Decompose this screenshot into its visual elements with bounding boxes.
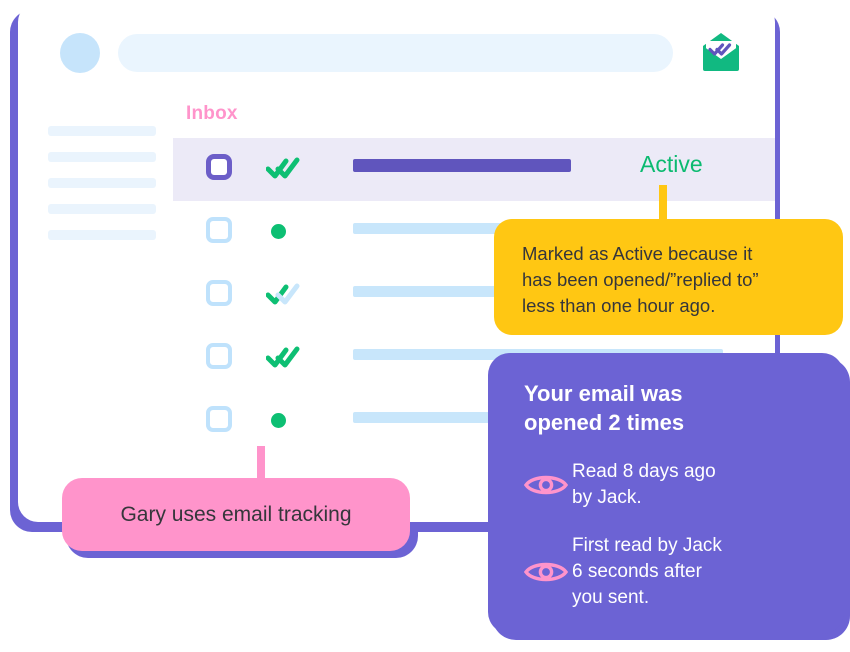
row-checkbox[interactable] — [206, 217, 232, 243]
open-envelope-check-icon[interactable] — [699, 31, 743, 73]
open-event-line-2: by Jack. — [572, 485, 716, 511]
open-event-row: First read by Jack 6 seconds after you s… — [524, 533, 818, 611]
row-checkbox[interactable] — [206, 280, 232, 306]
search-input[interactable] — [118, 34, 673, 72]
status-badge-active: Active — [640, 151, 703, 178]
green-dot-icon — [271, 224, 286, 239]
open-event-row: Read 8 days ago by Jack. — [524, 459, 818, 511]
double-check-read-icon — [266, 345, 300, 369]
email-open-tracking-panel: Your email was opened 2 times Read 8 day… — [488, 353, 844, 634]
sidebar-item-4[interactable] — [48, 204, 156, 214]
tooltip-line-3: less than one hour ago. — [522, 293, 819, 319]
check-half-read-icon — [266, 282, 300, 306]
open-event-line-2: 6 seconds after — [572, 559, 722, 585]
tooltip-line-2: has been opened/”replied to” — [522, 267, 819, 293]
sidebar-skeleton — [48, 126, 158, 256]
panel-title-line-1: Your email was — [524, 379, 818, 408]
callout-text: Gary uses email tracking — [120, 503, 351, 527]
sidebar-item-3[interactable] — [48, 178, 156, 188]
row-checkbox[interactable] — [206, 343, 232, 369]
open-event-text: Read 8 days ago by Jack. — [572, 459, 716, 511]
row-checkbox[interactable] — [206, 154, 232, 180]
row-checkbox[interactable] — [206, 406, 232, 432]
eye-icon — [524, 472, 572, 498]
yellow-connector-line — [659, 185, 667, 223]
illustration-stage: Inbox — [0, 0, 850, 652]
pink-connector-line — [257, 446, 265, 482]
open-event-line-3: you sent. — [572, 585, 722, 611]
eye-icon — [524, 559, 572, 585]
email-tracking-callout: Gary uses email tracking — [62, 478, 410, 551]
tooltip-line-1: Marked as Active because it — [522, 241, 819, 267]
open-event-line-1: First read by Jack — [572, 533, 722, 559]
double-check-read-icon — [266, 156, 300, 180]
inbox-label: Inbox — [186, 103, 238, 125]
active-explanation-tooltip: Marked as Active because it has been ope… — [494, 219, 843, 335]
open-event-line-1: Read 8 days ago — [572, 459, 716, 485]
panel-title-line-2: opened 2 times — [524, 408, 818, 437]
avatar[interactable] — [60, 33, 100, 73]
green-dot-icon — [271, 413, 286, 428]
sidebar-item-2[interactable] — [48, 152, 156, 162]
subject-bar — [353, 159, 571, 172]
sidebar-item-1[interactable] — [48, 126, 156, 136]
open-event-text: First read by Jack 6 seconds after you s… — [572, 533, 722, 611]
sidebar-item-5[interactable] — [48, 230, 156, 240]
